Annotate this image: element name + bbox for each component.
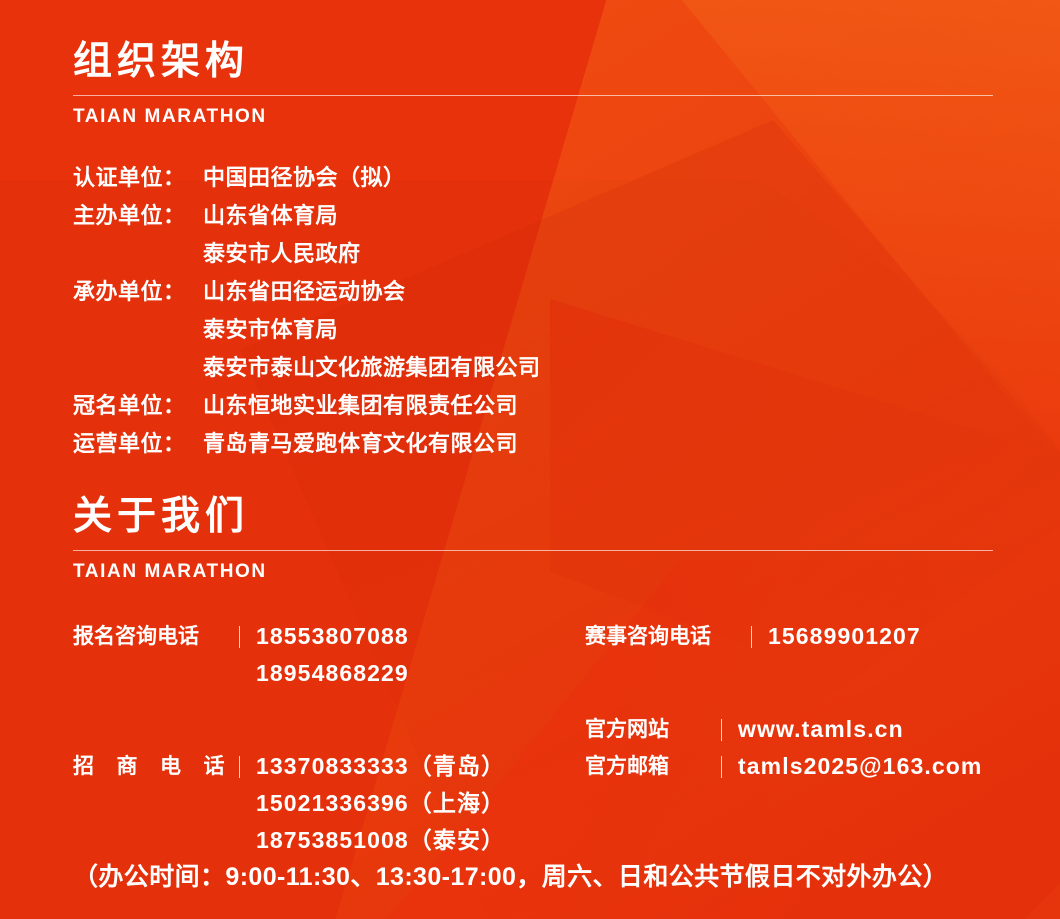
- section-organization-title: 组织架构: [73, 42, 993, 81]
- section-about-title: 关于我们: [73, 497, 993, 536]
- divider-icon: [239, 756, 240, 778]
- organization-row-value: 泰安市泰山文化旅游集团有限公司: [203, 350, 541, 382]
- organization-row: 认证单位： 中国田径协会（拟）: [73, 160, 541, 198]
- contact-group-email: 官方邮箱 tamls2025@163.com: [585, 748, 982, 785]
- divider-icon: [721, 756, 722, 778]
- contact-website-value[interactable]: www.tamls.cn: [738, 711, 904, 748]
- divider-icon: [751, 626, 752, 648]
- organization-row-value: 泰安市人民政府: [203, 236, 361, 268]
- section-organization-header: 组织架构 TAIAN MARATHON: [73, 42, 993, 126]
- contact-label-business-phone: 招商电话: [73, 748, 225, 785]
- contact-phone-value[interactable]: 18753851008（泰安）: [256, 822, 505, 859]
- organization-row-value: 山东省体育局: [203, 198, 338, 230]
- organization-row-value: 中国田径协会（拟）: [203, 160, 406, 192]
- contact-label-email: 官方邮箱: [585, 748, 707, 785]
- organization-row-value: 泰安市体育局: [203, 312, 338, 344]
- contact-column-right: 赛事咨询电话 15689901207 官方网站 www.tamls.cn 官方邮…: [585, 618, 982, 785]
- contact-group-website: 官方网站 www.tamls.cn: [585, 711, 982, 748]
- organization-list: 认证单位： 中国田径协会（拟） 主办单位： 山东省体育局 泰安市人民政府 承办单…: [73, 160, 541, 464]
- organization-row-label: 运营单位：: [73, 426, 203, 458]
- organization-row-label: 主办单位：: [73, 198, 203, 230]
- spacer: [73, 692, 505, 748]
- poster-canvas: 组织架构 TAIAN MARATHON 认证单位： 中国田径协会（拟） 主办单位…: [0, 0, 1060, 919]
- contact-values: tamls2025@163.com: [738, 748, 982, 785]
- contact-phone-value[interactable]: 13370833333（青岛）: [256, 748, 505, 785]
- divider-icon: [239, 626, 240, 648]
- contact-email-value[interactable]: tamls2025@163.com: [738, 748, 982, 785]
- contact-group-event: 赛事咨询电话 15689901207: [585, 618, 982, 655]
- section-about-subtitle: TAIAN MARATHON: [73, 562, 993, 581]
- contact-column-left: 报名咨询电话 18553807088 18954868229 招商电话 1337…: [73, 618, 505, 859]
- contact-values: 18553807088 18954868229: [256, 618, 409, 692]
- contact-group-business: 招商电话 13370833333（青岛） 15021336396（上海） 187…: [73, 748, 505, 859]
- contact-label-registration-phone: 报名咨询电话: [73, 618, 225, 655]
- spacer: [585, 655, 982, 711]
- organization-row: 泰安市泰山文化旅游集团有限公司: [73, 350, 541, 388]
- organization-row: 冠名单位： 山东恒地实业集团有限责任公司: [73, 388, 541, 426]
- organization-row: 泰安市人民政府: [73, 236, 541, 274]
- section-about-header: 关于我们 TAIAN MARATHON: [73, 497, 993, 581]
- contact-values: www.tamls.cn: [738, 711, 904, 748]
- organization-row-value: 青岛青马爱跑体育文化有限公司: [203, 426, 518, 458]
- office-hours-note: （办公时间：9:00-11:30、13:30-17:00，周六、日和公共节假日不…: [73, 857, 948, 893]
- section-about-rule: [73, 550, 993, 551]
- contact-label-website: 官方网站: [585, 711, 707, 748]
- organization-row-value: 山东恒地实业集团有限责任公司: [203, 388, 518, 420]
- contact-phone-value[interactable]: 18954868229: [256, 655, 409, 692]
- organization-row: 主办单位： 山东省体育局: [73, 198, 541, 236]
- contact-label-event-phone: 赛事咨询电话: [585, 618, 737, 655]
- organization-row: 运营单位： 青岛青马爱跑体育文化有限公司: [73, 426, 541, 464]
- contact-values: 13370833333（青岛） 15021336396（上海） 18753851…: [256, 748, 505, 859]
- divider-icon: [721, 719, 722, 741]
- contact-group-registration: 报名咨询电话 18553807088 18954868229: [73, 618, 505, 692]
- organization-row-value: 山东省田径运动协会: [203, 274, 406, 306]
- contact-phone-value[interactable]: 18553807088: [256, 618, 409, 655]
- contact-phone-value[interactable]: 15689901207: [768, 618, 921, 655]
- contact-values: 15689901207: [768, 618, 921, 655]
- organization-row-label: 认证单位：: [73, 160, 203, 192]
- organization-row: 泰安市体育局: [73, 312, 541, 350]
- contact-phone-value[interactable]: 15021336396（上海）: [256, 785, 505, 822]
- section-organization-rule: [73, 95, 993, 96]
- section-organization-subtitle: TAIAN MARATHON: [73, 107, 993, 126]
- organization-row-label: 冠名单位：: [73, 388, 203, 420]
- organization-row-label: 承办单位：: [73, 274, 203, 306]
- organization-row: 承办单位： 山东省田径运动协会: [73, 274, 541, 312]
